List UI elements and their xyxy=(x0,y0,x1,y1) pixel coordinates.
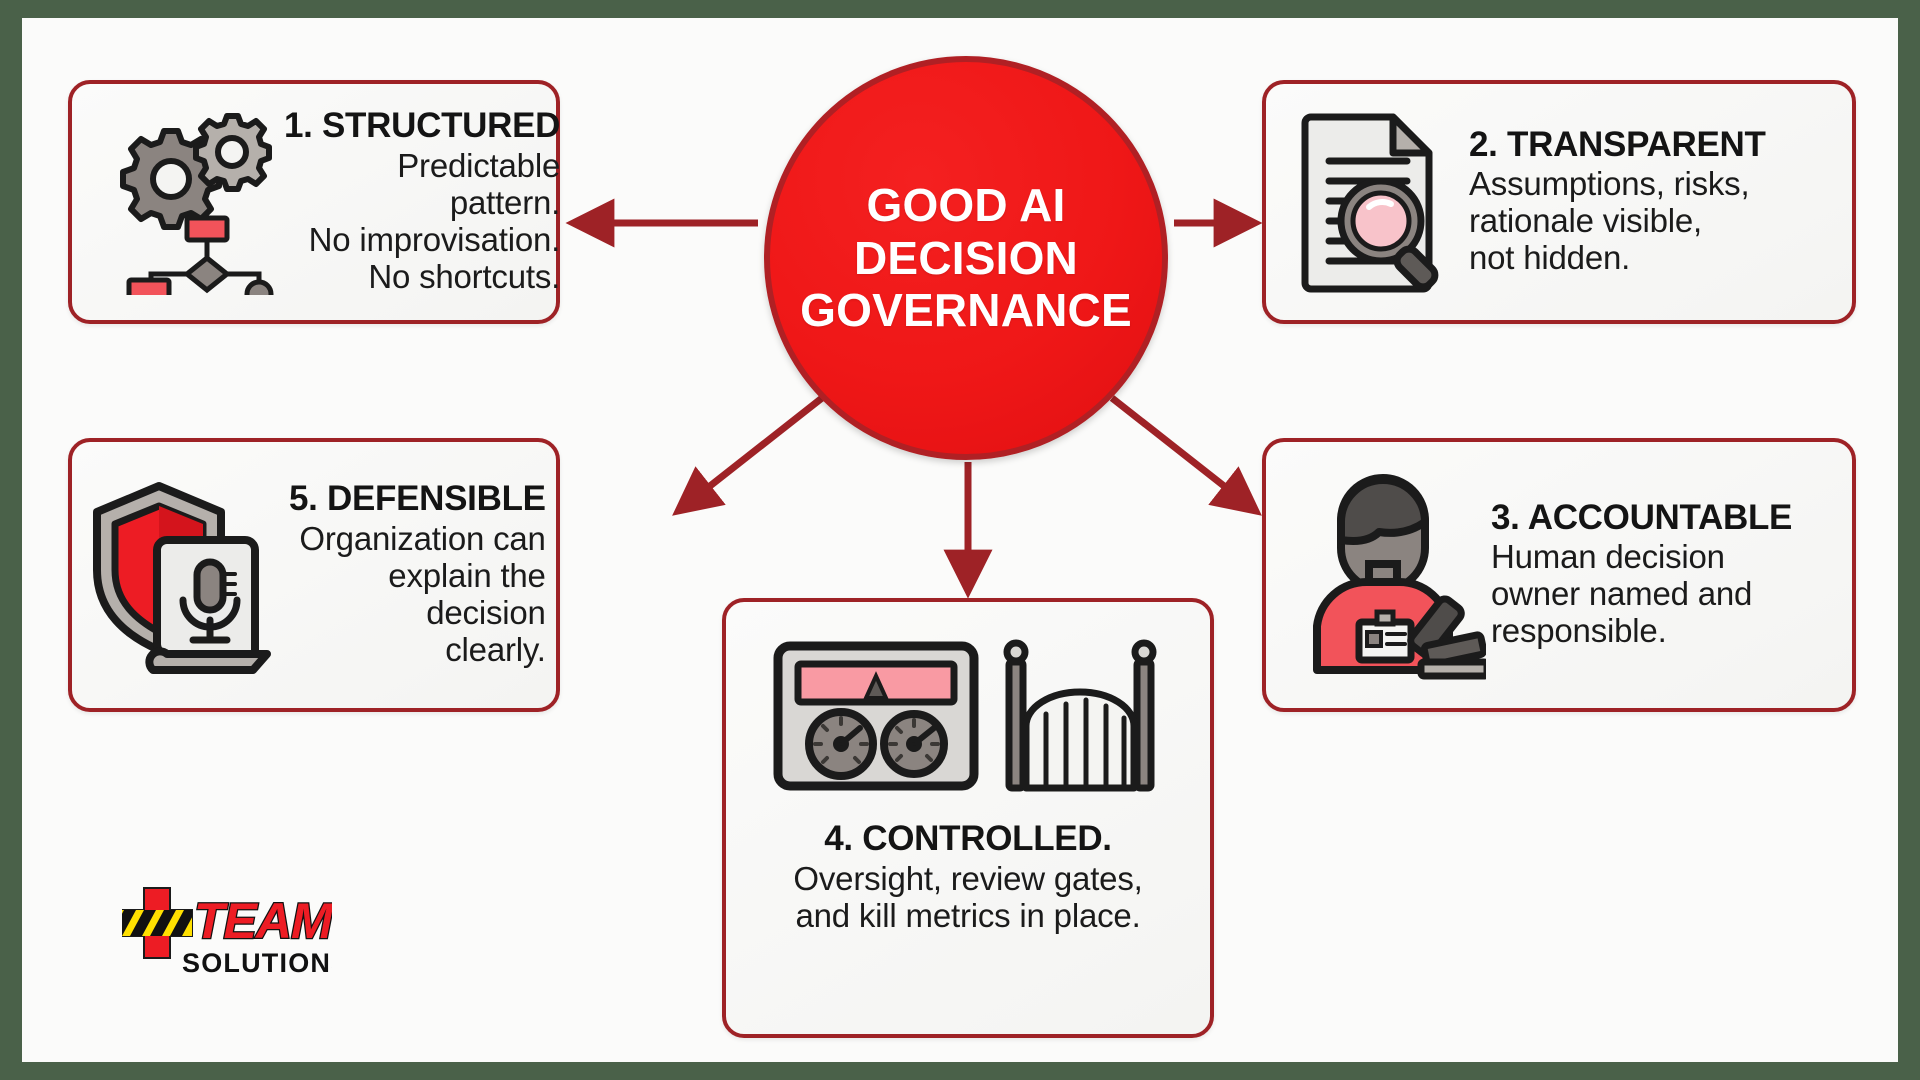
card-controlled-body-line-1: Oversight, review gates, xyxy=(793,861,1142,898)
card-defensible-body-line-2: explain the decision xyxy=(289,558,546,632)
card-defensible[interactable]: 5. DEFENSIBLE Organization can explain t… xyxy=(68,438,560,712)
arrow-hub-to-accountable xyxy=(1112,398,1252,508)
card-structured-body-line-1: Predictable pattern. xyxy=(284,148,560,222)
shield-microphone-document-icon xyxy=(84,470,289,680)
card-accountable[interactable]: 3. ACCOUNTABLE Human decision owner name… xyxy=(1262,438,1856,712)
card-structured[interactable]: 1. STRUCTURED Predictable pattern. No im… xyxy=(68,80,560,324)
hub-title: GOOD AI DECISION GOVERNANCE xyxy=(800,179,1132,336)
hub-title-line-3: GOVERNANCE xyxy=(800,284,1132,336)
hub-title-line-1: GOOD AI xyxy=(800,179,1132,231)
card-controlled-title: 4. CONTROLLED. xyxy=(793,821,1142,858)
card-transparent-body: Assumptions, risks, rationale visible, n… xyxy=(1469,166,1836,277)
card-transparent-body-line-2: rationale visible, xyxy=(1469,203,1836,240)
document-magnifier-icon xyxy=(1284,107,1469,297)
card-structured-body-line-2: No improvisation. xyxy=(284,222,560,259)
card-controlled-body: Oversight, review gates, and kill metric… xyxy=(793,861,1142,935)
team-solutions-logo: TEAM SOLUTIONS xyxy=(122,880,332,992)
card-structured-title: 1. STRUCTURED xyxy=(284,108,560,145)
card-accountable-body-line-1: Human decision xyxy=(1491,539,1836,576)
gears-flowchart-icon xyxy=(84,110,284,295)
card-structured-body-line-3: No shortcuts. xyxy=(284,259,560,296)
card-structured-body: Predictable pattern. No improvisation. N… xyxy=(284,148,560,296)
card-transparent-text: 2. TRANSPARENT Assumptions, risks, ratio… xyxy=(1469,127,1836,278)
center-hub-circle: GOOD AI DECISION GOVERNANCE xyxy=(764,56,1168,460)
card-accountable-title: 3. ACCOUNTABLE xyxy=(1491,500,1836,537)
card-defensible-text: 5. DEFENSIBLE Organization can explain t… xyxy=(289,481,546,669)
card-accountable-body: Human decision owner named and responsib… xyxy=(1491,539,1836,650)
card-controlled[interactable]: 4. CONTROLLED. Oversight, review gates, … xyxy=(722,598,1214,1038)
arrow-hub-to-defensible xyxy=(682,398,822,508)
card-structured-text: 1. STRUCTURED Predictable pattern. No im… xyxy=(284,108,560,296)
card-defensible-body: Organization can explain the decision cl… xyxy=(289,521,546,669)
card-transparent-body-line-3: not hidden. xyxy=(1469,240,1836,277)
card-defensible-body-line-1: Organization can xyxy=(289,521,546,558)
card-controlled-body-line-2: and kill metrics in place. xyxy=(793,898,1142,935)
card-accountable-body-line-3: responsible. xyxy=(1491,613,1836,650)
card-transparent-body-line-1: Assumptions, risks, xyxy=(1469,166,1836,203)
card-transparent[interactable]: 2. TRANSPARENT Assumptions, risks, ratio… xyxy=(1262,80,1856,324)
card-accountable-body-line-2: owner named and xyxy=(1491,576,1836,613)
infographic-canvas: GOOD AI DECISION GOVERNANCE xyxy=(22,18,1898,1062)
card-transparent-title: 2. TRANSPARENT xyxy=(1469,127,1836,164)
card-controlled-text: 4. CONTROLLED. Oversight, review gates, … xyxy=(793,821,1142,1014)
person-gavel-badge-icon xyxy=(1276,470,1491,680)
logo-word-team: TEAM xyxy=(194,893,332,949)
card-defensible-body-line-3: clearly. xyxy=(289,632,546,669)
card-defensible-title: 5. DEFENSIBLE xyxy=(289,481,546,518)
hub-title-line-2: DECISION xyxy=(800,232,1132,284)
card-accountable-text: 3. ACCOUNTABLE Human decision owner name… xyxy=(1491,500,1836,651)
logo-word-solutions: SOLUTIONS xyxy=(182,948,332,978)
control-panel-gate-icon xyxy=(740,622,1196,797)
